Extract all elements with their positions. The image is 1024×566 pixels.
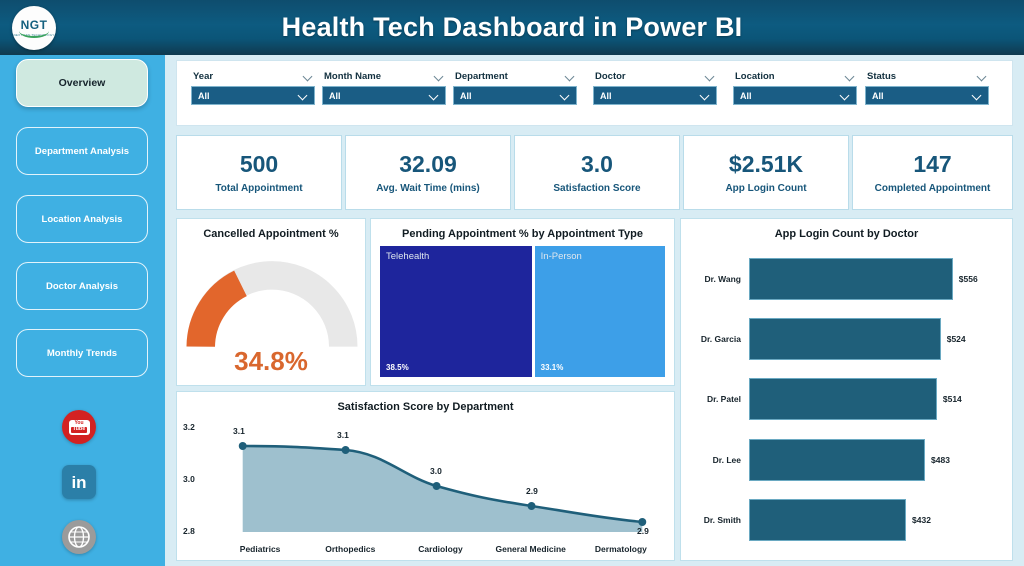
slicer-doctor-title: Doctor (595, 71, 626, 82)
slicer-doctor-value: All (600, 91, 612, 101)
bar-track: $483 (749, 430, 1006, 490)
bar-fill (749, 499, 906, 541)
bar-row[interactable]: Dr. Patel $514 (687, 369, 1006, 429)
slicer-department-title: Department (455, 71, 508, 82)
chevron-down-icon (430, 91, 439, 100)
bar-row[interactable]: Dr. Wang $556 (687, 249, 1006, 309)
bar-value-label: $514 (937, 394, 962, 404)
slicer-location: Location All (733, 71, 857, 105)
slicer-month-name-dropdown[interactable]: All (322, 86, 446, 105)
slicer-bar: Year All Month Name All (176, 60, 1013, 126)
bar-value-label: $556 (953, 274, 978, 284)
bar-category-label: Dr. Lee (687, 455, 749, 465)
gauge-title: Cancelled Appointment % (177, 219, 365, 240)
data-point[interactable] (342, 446, 350, 454)
chevron-down-icon[interactable] (304, 72, 313, 81)
bar-fill (749, 378, 937, 420)
x-axis-tick: Cardiology (395, 544, 485, 554)
x-axis-tick: General Medicine (486, 544, 576, 554)
chevron-down-icon (973, 91, 982, 100)
slicer-location-label: Location (733, 71, 857, 86)
bar-category-label: Dr. Patel (687, 394, 749, 404)
sidebar-item-monthly-trends[interactable]: Monthly Trends (16, 329, 148, 377)
kpi-label: Satisfaction Score (553, 183, 640, 194)
youtube-glyph: You Tube (69, 420, 90, 435)
slicer-location-dropdown[interactable]: All (733, 86, 857, 105)
page-title: Health Tech Dashboard in Power BI (0, 0, 1024, 55)
bar-chart-visual: Dr. Wang $556 Dr. Garcia $524 Dr. Patel (687, 249, 1006, 550)
linkedin-icon[interactable]: in (62, 465, 96, 499)
report-canvas: Year All Month Name All (165, 55, 1024, 566)
chevron-down-icon[interactable] (566, 72, 575, 81)
x-axis-tick: Dermatology (576, 544, 666, 554)
area-series-svg (215, 418, 670, 538)
treemap-pending-appointment[interactable]: Pending Appointment % by Appointment Typ… (370, 218, 675, 386)
sidebar-item-overview[interactable]: Overview (16, 59, 148, 107)
kpi-label: Completed Appointment (875, 183, 991, 194)
bar-track: $524 (749, 309, 1006, 369)
data-point[interactable] (433, 482, 441, 490)
slicer-status-value: All (872, 91, 884, 101)
y-axis-tick: 2.8 (183, 526, 195, 536)
chevron-down-icon (841, 91, 850, 100)
chevron-down-icon[interactable] (435, 72, 444, 81)
treemap-tile-label: In-Person (541, 251, 582, 262)
slicer-month-name: Month Name All (322, 71, 446, 105)
data-point-label: 3.1 (233, 426, 245, 436)
kpi-value: $2.51K (729, 151, 803, 177)
slicer-year-title: Year (193, 71, 213, 82)
x-axis: Pediatrics Orthopedics Cardiology Genera… (215, 544, 666, 554)
bar-category-label: Dr. Wang (687, 274, 749, 284)
chevron-down-icon[interactable] (706, 72, 715, 81)
app-header: NGT NEXT GEN TECHNOLOGY Health Tech Dash… (0, 0, 1024, 55)
slicer-month-name-label: Month Name (322, 71, 446, 86)
slicer-doctor-dropdown[interactable]: All (593, 86, 717, 105)
gauge-value-label: 34.8% (177, 346, 365, 377)
area-chart-visual: 3.2 3.0 2.8 3.1 3.1 3.0 2.9 2.9 (177, 418, 674, 538)
gauge-arc-svg (177, 247, 367, 357)
treemap-tile-telehealth[interactable]: Telehealth 38.5% (380, 246, 532, 377)
data-point[interactable] (239, 442, 247, 450)
kpi-value: 500 (240, 151, 278, 177)
bar-fill (749, 258, 953, 300)
data-point[interactable] (528, 502, 536, 510)
y-axis-tick: 3.0 (183, 474, 195, 484)
slicer-department-dropdown[interactable]: All (453, 86, 577, 105)
y-axis-tick: 3.2 (183, 422, 195, 432)
slicer-month-name-value: All (329, 91, 341, 101)
youtube-icon[interactable]: You Tube (62, 410, 96, 444)
slicer-department-value: All (460, 91, 472, 101)
kpi-card-satisfaction-score[interactable]: 3.0 Satisfaction Score (514, 135, 680, 210)
gauge-cancelled-appointment[interactable]: Cancelled Appointment % 34.8% (176, 218, 366, 386)
data-point-label: 2.9 (637, 526, 649, 536)
slicer-status-label: Status (865, 71, 989, 86)
slicer-year: Year All (191, 71, 315, 105)
gauge-fill (201, 283, 241, 346)
bar-value-label: $432 (906, 515, 931, 525)
data-point-label: 3.1 (337, 430, 349, 440)
bar-chart-app-login-by-doctor[interactable]: App Login Count by Doctor Dr. Wang $556 … (680, 218, 1013, 561)
sidebar-item-department-analysis[interactable]: Department Analysis (16, 127, 148, 175)
treemap-tile-label: Telehealth (386, 251, 429, 262)
slicer-status-title: Status (867, 71, 896, 82)
kpi-card-total-appointment[interactable]: 500 Total Appointment (176, 135, 342, 210)
kpi-value: 32.09 (399, 151, 457, 177)
bar-fill (749, 439, 925, 481)
slicer-year-value: All (198, 91, 210, 101)
bar-track: $432 (749, 490, 1006, 550)
youtube-line2: Tube (71, 427, 88, 433)
kpi-value: 3.0 (581, 151, 613, 177)
slicer-status: Status All (865, 71, 989, 105)
x-axis-tick: Orthopedics (305, 544, 395, 554)
bar-chart-title: App Login Count by Doctor (681, 219, 1012, 240)
data-point[interactable] (638, 518, 646, 526)
slicer-year-label: Year (191, 71, 315, 86)
chevron-down-icon[interactable] (846, 72, 855, 81)
slicer-department-label: Department (453, 71, 577, 86)
bar-category-label: Dr. Smith (687, 515, 749, 525)
bar-row[interactable]: Dr. Lee $483 (687, 430, 1006, 490)
bar-category-label: Dr. Garcia (687, 334, 749, 344)
kpi-label: Avg. Wait Time (mins) (376, 183, 480, 194)
x-axis-tick: Pediatrics (215, 544, 305, 554)
slicer-location-value: All (740, 91, 752, 101)
kpi-label: App Login Count (725, 183, 806, 194)
globe-glyph (67, 525, 91, 549)
sidebar-item-location-analysis[interactable]: Location Analysis (16, 195, 148, 243)
treemap-visual: Telehealth 38.5% In-Person 33.1% (380, 246, 665, 377)
treemap-tile-in-person[interactable]: In-Person 33.1% (535, 246, 665, 377)
bar-row[interactable]: Dr. Garcia $524 (687, 309, 1006, 369)
dashboard-root: NGT NEXT GEN TECHNOLOGY Health Tech Dash… (0, 0, 1024, 566)
bar-track: $514 (749, 369, 1006, 429)
website-globe-icon[interactable] (62, 520, 96, 554)
treemap-tile-value: 33.1% (541, 363, 564, 372)
slicer-department: Department All (453, 71, 577, 105)
chevron-down-icon (561, 91, 570, 100)
slicer-doctor-label: Doctor (593, 71, 717, 86)
treemap-tile-value: 38.5% (386, 363, 409, 372)
area-fill (243, 446, 643, 532)
area-chart-title: Satisfaction Score by Department (177, 392, 674, 413)
sidebar-item-doctor-analysis[interactable]: Doctor Analysis (16, 262, 148, 310)
kpi-card-app-login-count[interactable]: $2.51K App Login Count (683, 135, 849, 210)
slicer-location-title: Location (735, 71, 775, 82)
slicer-year-dropdown[interactable]: All (191, 86, 315, 105)
slicer-status-dropdown[interactable]: All (865, 86, 989, 105)
treemap-title: Pending Appointment % by Appointment Typ… (371, 219, 674, 240)
chevron-down-icon (701, 91, 710, 100)
bar-fill (749, 318, 941, 360)
kpi-value: 147 (913, 151, 951, 177)
slicer-month-name-title: Month Name (324, 71, 381, 82)
bar-value-label: $524 (941, 334, 966, 344)
kpi-label: Total Appointment (215, 183, 302, 194)
chevron-down-icon (299, 91, 308, 100)
data-point-label: 3.0 (430, 466, 442, 476)
area-chart-satisfaction-by-department[interactable]: Satisfaction Score by Department 3.2 3.0… (176, 391, 675, 561)
bar-track: $556 (749, 249, 1006, 309)
chevron-down-icon[interactable] (978, 72, 987, 81)
kpi-card-completed-appointment[interactable]: 147 Completed Appointment (852, 135, 1013, 210)
sidebar: Overview Department Analysis Location An… (0, 55, 165, 566)
linkedin-glyph: in (71, 474, 86, 491)
bar-value-label: $483 (925, 455, 950, 465)
slicer-doctor: Doctor All (593, 71, 717, 105)
bar-row[interactable]: Dr. Smith $432 (687, 490, 1006, 550)
kpi-card-avg-wait-time[interactable]: 32.09 Avg. Wait Time (mins) (345, 135, 511, 210)
data-point-label: 2.9 (526, 486, 538, 496)
